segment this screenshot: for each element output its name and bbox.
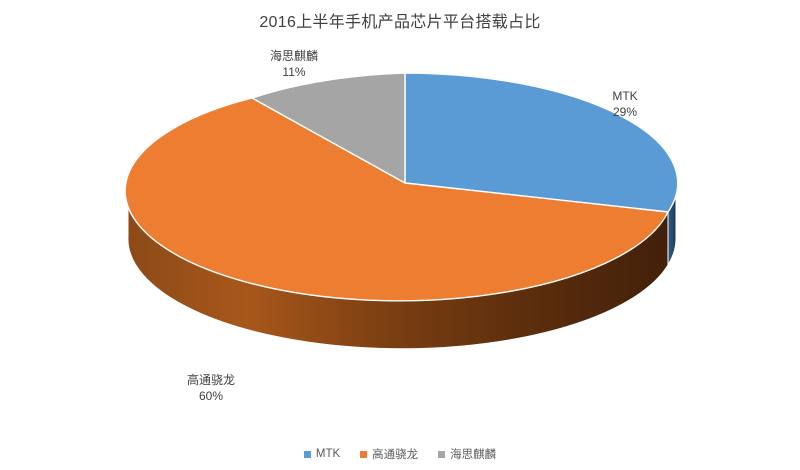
data-label-mtk: MTK 29% [570, 88, 680, 120]
legend-swatch-icon [360, 451, 367, 458]
data-label-hisilicon-name: 海思麒麟 [234, 48, 354, 64]
legend-item[interactable]: 海思麒麟 [438, 446, 496, 462]
data-label-mtk-name: MTK [570, 88, 680, 104]
pie-chart-figure: 2016上半年手机产品芯片平台搭载占比 [0, 0, 800, 470]
pie-plot-area: 海思麒麟 11% MTK 29% 高通骁龙 60% [0, 0, 800, 430]
legend-item-label: 高通骁龙 [372, 446, 418, 462]
data-label-hisilicon: 海思麒麟 11% [234, 48, 354, 80]
pie-svg [0, 0, 800, 430]
data-label-qualcomm-value: 60% [146, 388, 276, 404]
data-label-qualcomm-name: 高通骁龙 [146, 372, 276, 388]
data-label-hisilicon-value: 11% [234, 64, 354, 80]
legend-swatch-icon [304, 451, 311, 458]
legend-swatch-icon [438, 451, 445, 458]
legend-item[interactable]: MTK [304, 448, 340, 460]
legend-item-label: 海思麒麟 [450, 446, 496, 462]
legend-item-label: MTK [316, 448, 340, 460]
chart-legend: MTK高通骁龙海思麒麟 [0, 446, 800, 462]
data-label-mtk-value: 29% [570, 104, 680, 120]
data-label-qualcomm: 高通骁龙 60% [146, 372, 276, 404]
legend-item[interactable]: 高通骁龙 [360, 446, 418, 462]
